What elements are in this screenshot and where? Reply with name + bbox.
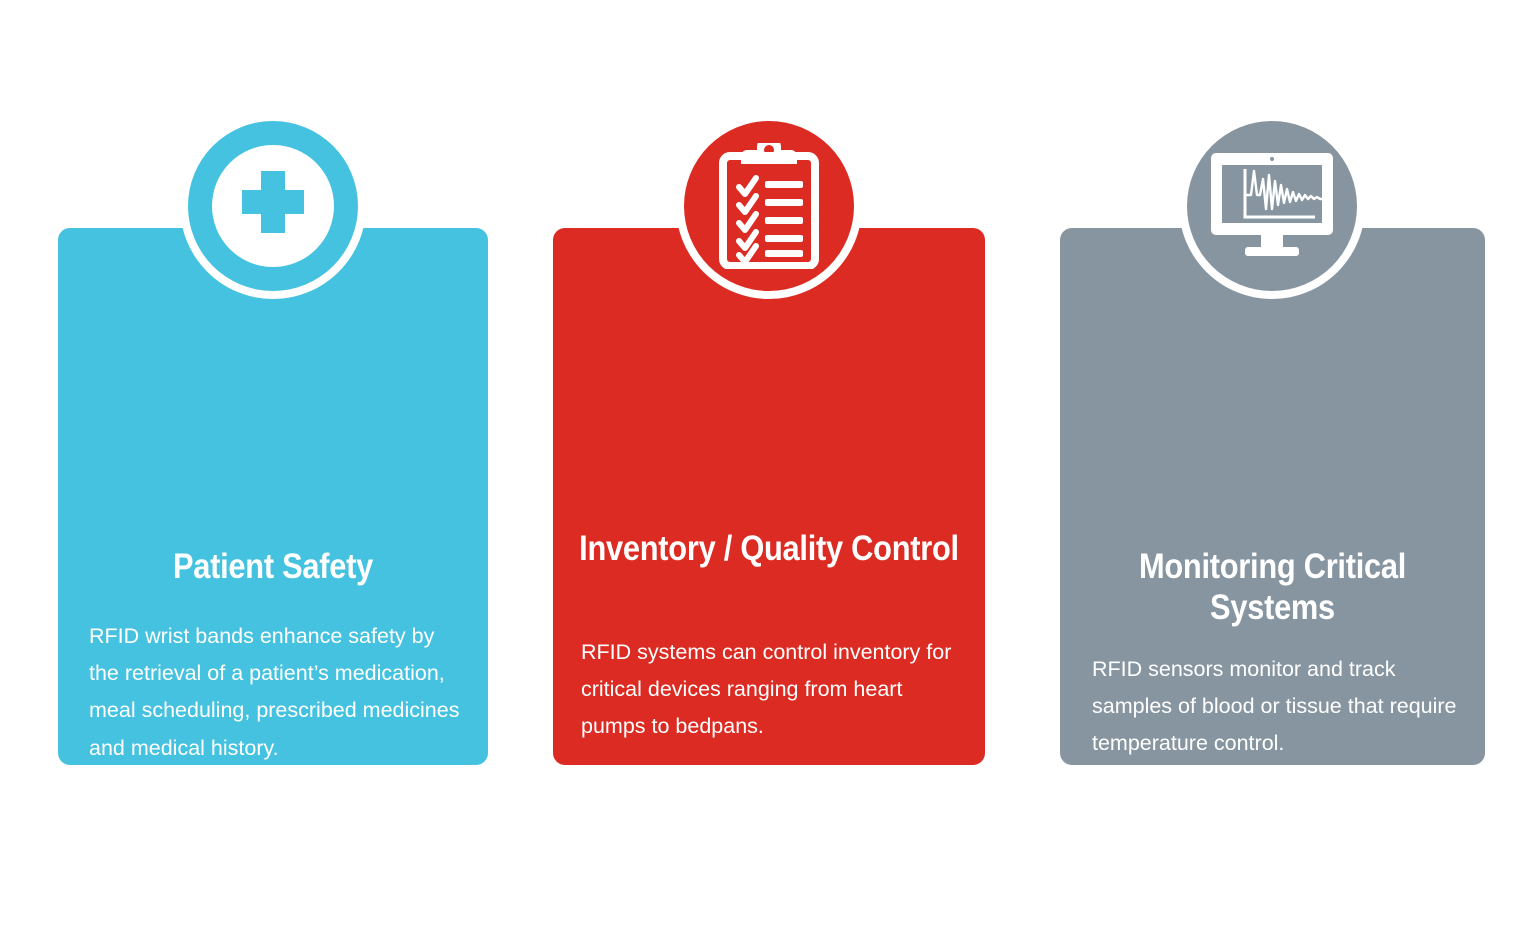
card-title-patient-safety: Patient Safety (84, 546, 462, 587)
icon-badge-patient-safety (180, 113, 366, 299)
card-title-inventory-quality-control: Inventory / Quality Control (579, 528, 959, 569)
medical-cross-icon (212, 145, 334, 267)
card-body-monitoring-critical-systems: RFID sensors monitor and track samples o… (1092, 651, 1467, 910)
card-title-monitoring-critical-systems: Monitoring Critical Systems (1086, 546, 1460, 629)
card-paragraph: Medical supplies are ordered, sorted and… (581, 768, 955, 917)
card-patient-safety: Patient Safety RFID wrist bands enhance … (58, 228, 488, 765)
card-paragraph: Monitors equipment associated with surgi… (1092, 799, 1467, 911)
icon-disc (1187, 121, 1357, 291)
icon-badge-inventory-quality-control (676, 113, 862, 299)
card-body-patient-safety: RFID wrist bands enhance safety by the r… (89, 618, 462, 938)
icon-disc (188, 121, 358, 291)
icon-badge-monitoring-critical-systems (1179, 113, 1365, 299)
infographic-canvas: Patient Safety RFID wrist bands enhance … (0, 0, 1536, 864)
clipboard-checklist-icon (713, 143, 825, 269)
card-paragraph: RFID systems can control inventory for c… (581, 634, 955, 746)
card-paragraph: RFID sensors monitor and track samples o… (1092, 651, 1467, 763)
card-monitoring-critical-systems: Monitoring Critical Systems RFID sensors… (1060, 228, 1485, 765)
card-paragraph: RFID embedded devices can reduce the pot… (89, 789, 462, 938)
icon-disc (684, 121, 854, 291)
card-paragraph: RFID wrist bands enhance safety by the r… (89, 618, 462, 767)
card-body-inventory-quality-control: RFID systems can control inventory for c… (581, 634, 955, 916)
monitor-waveform-icon (1209, 151, 1335, 261)
card-inventory-quality-control: Inventory / Quality Control RFID systems… (553, 228, 985, 765)
